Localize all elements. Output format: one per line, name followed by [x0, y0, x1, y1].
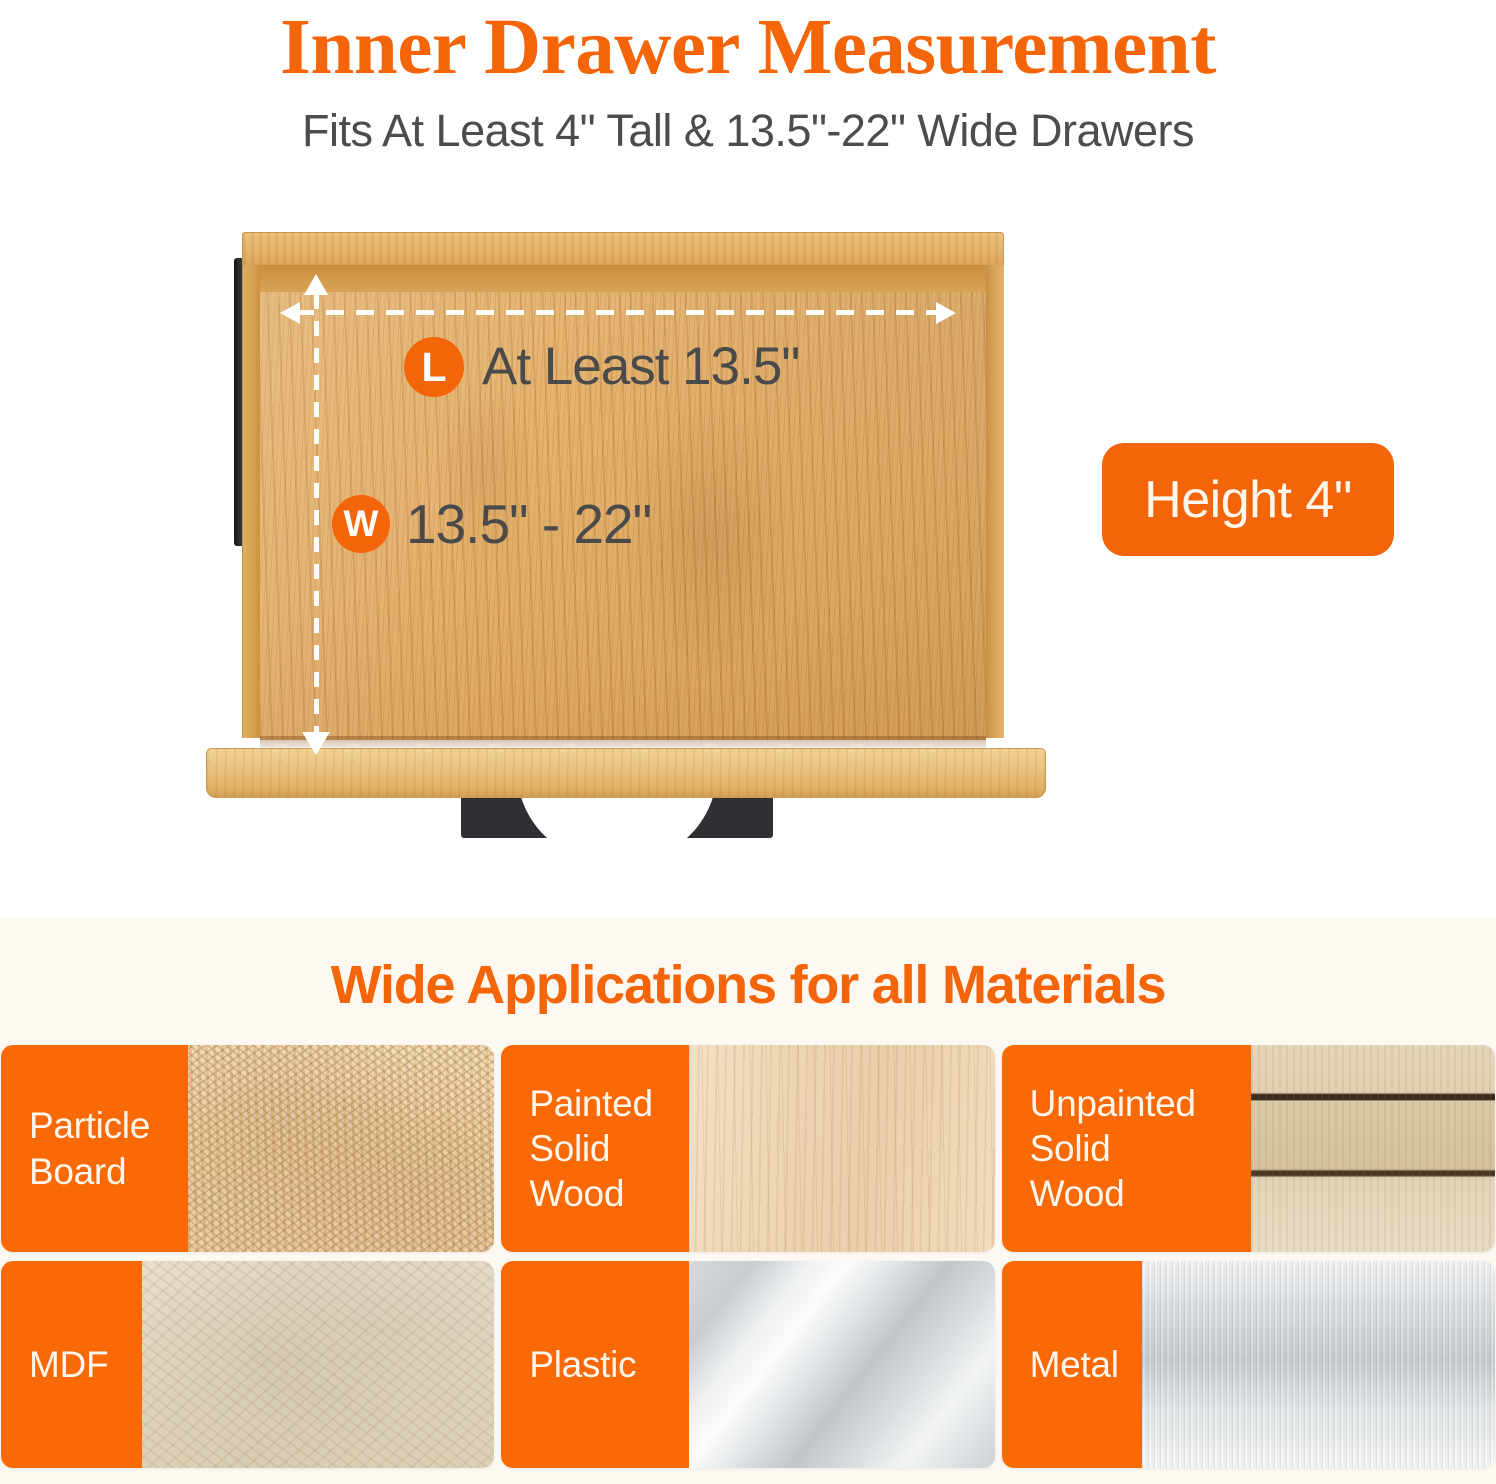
material-label-line: MDF: [29, 1342, 142, 1387]
material-label-line: Solid: [1030, 1126, 1251, 1171]
drawer-illustration: L At Least 13.5" W 13.5" - 22": [196, 232, 1096, 842]
painted-solid-wood-texture: [689, 1045, 995, 1252]
drawer-top-rim: [242, 232, 1004, 266]
material-label-plastic: Plastic: [501, 1261, 688, 1468]
width-badge-icon: W: [332, 495, 390, 553]
material-label-mdf: MDF: [1, 1261, 142, 1468]
page-title: Inner Drawer Measurement: [0, 0, 1496, 87]
width-dimension-line: [314, 294, 319, 746]
length-arrow-right-icon: [936, 302, 956, 324]
length-dimension-line: [296, 310, 938, 315]
drawer-right-wall: [986, 265, 1004, 738]
applications-title: Wide Applications for all Materials: [0, 918, 1496, 1016]
material-label-line: Plastic: [529, 1342, 688, 1387]
material-label-line: Wood: [529, 1171, 688, 1216]
material-card-metal: Metal: [1002, 1261, 1495, 1468]
length-callout: L At Least 13.5": [404, 336, 799, 397]
drawer-front-rail: [206, 748, 1046, 798]
material-label-metal: Metal: [1002, 1261, 1143, 1468]
width-arrow-down-icon: [302, 732, 330, 755]
width-value: 13.5" - 22": [406, 492, 651, 556]
length-badge-icon: L: [404, 337, 464, 397]
material-label-line: Solid: [529, 1126, 688, 1171]
material-label-line: Painted: [529, 1081, 688, 1126]
material-label-unpainted-solid-wood: Unpainted Solid Wood: [1002, 1045, 1251, 1252]
drawer-left-wall: [242, 265, 260, 738]
material-card-plastic: Plastic: [501, 1261, 994, 1468]
material-card-unpainted-solid-wood: Unpainted Solid Wood: [1002, 1045, 1495, 1252]
materials-grid: Particle Board Painted Solid Wood Unpain…: [0, 1045, 1496, 1468]
material-card-particle-board: Particle Board: [1, 1045, 494, 1252]
height-badge: Height 4": [1102, 443, 1394, 556]
measurement-section: Inner Drawer Measurement Fits At Least 4…: [0, 0, 1496, 918]
mdf-texture: [142, 1261, 495, 1468]
material-label-line: Particle: [29, 1103, 188, 1148]
unpainted-solid-wood-texture: [1251, 1045, 1495, 1252]
material-card-mdf: MDF: [1, 1261, 494, 1468]
material-label-line: Wood: [1030, 1171, 1251, 1216]
material-label-line: Board: [29, 1149, 188, 1194]
applications-section: Wide Applications for all Materials Part…: [0, 918, 1496, 1484]
material-card-painted-solid-wood: Painted Solid Wood: [501, 1045, 994, 1252]
width-arrow-up-icon: [304, 274, 328, 295]
material-label-painted-solid-wood: Painted Solid Wood: [501, 1045, 688, 1252]
plastic-texture: [689, 1261, 995, 1468]
particle-board-texture: [188, 1045, 494, 1252]
width-callout: W 13.5" - 22": [332, 492, 651, 556]
metal-texture: [1142, 1261, 1495, 1468]
page-subtitle: Fits At Least 4" Tall & 13.5"-22" Wide D…: [0, 87, 1496, 153]
material-label-line: Unpainted: [1030, 1081, 1251, 1126]
length-value: At Least 13.5": [482, 336, 799, 397]
length-arrow-left-icon: [280, 302, 300, 324]
material-label-particle-board: Particle Board: [1, 1045, 188, 1252]
material-label-line: Metal: [1030, 1342, 1143, 1387]
